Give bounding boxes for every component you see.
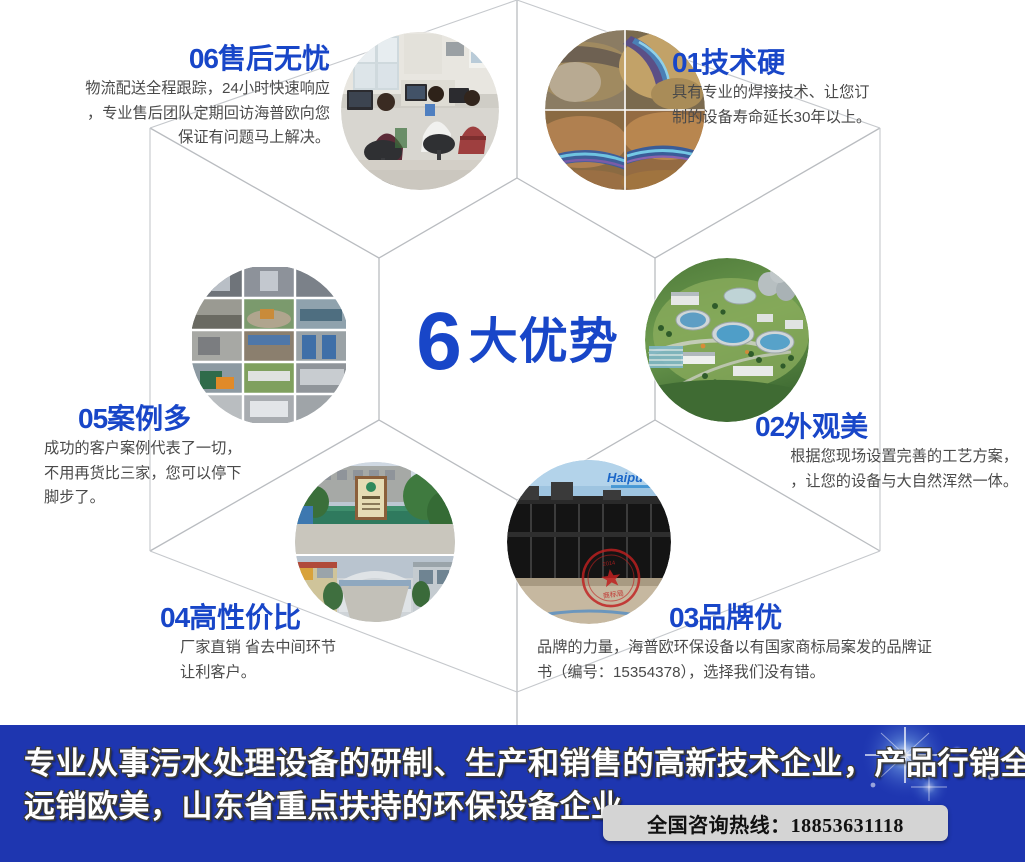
feature-photo-05 [190,265,350,425]
feature-text-04: 04高性价比 厂家直销 省去中间环节 让利客户。 [160,603,490,685]
feature-desc-line: 书（编号：15354378），选择我们没有错。 [537,664,825,681]
center-number: 6 [416,301,460,383]
feature-title-text-03: 品牌优 [698,602,782,633]
feature-desc-line: 不用再货比三家，您可以停下 [44,465,241,482]
feature-description-04: 厂家直销 省去中间环节 让利客户。 [160,636,490,685]
feature-photo-02 [645,258,809,422]
feature-number-01: 01 [672,47,701,78]
feature-title-04: 04高性价比 [160,603,490,633]
feature-text-02: 02外观美 根据您现场设置完善的工艺方案， ，让您的设备与大自然浑然一体。 [700,412,1018,494]
feature-number-03: 03 [669,602,698,633]
hotline-text: 全国咨询热线：18853631118 [647,809,904,838]
black-sewage-equipment-photo: Haipuou 商标局 2014 [507,460,671,624]
banner-line-1: 专业从事污水处理设备的研制、生产和销售的高新技术企业，产品行销全国并 [24,746,1025,781]
feature-desc-line: 品牌的力量，海普欧环保设备以有国家商标局案发的品牌证 [537,639,932,656]
feature-desc-line: 保证有问题马上解决。 [178,129,330,146]
feature-desc-line: 物流配送全程跟踪，24小时快速响应 [85,80,330,97]
feature-description-02: 根据您现场设置完善的工艺方案， ，让您的设备与大自然浑然一体。 [700,445,1018,494]
brand-logo-text: Haipuou [607,470,659,485]
feature-desc-line: 成功的客户案例代表了一切， [44,440,241,457]
center-label-text: 大优势 [469,318,619,367]
feature-text-06: 06售后无忧 物流配送全程跟踪，24小时快速响应 ，专业售后团队定期回访海普欧向… [10,44,330,151]
bottom-banner: 专业从事污水处理设备的研制、生产和销售的高新技术企业，产品行销全国并 远销欧美，… [0,725,1025,862]
feature-title-text-01: 技术硬 [701,47,785,78]
feature-desc-line: 厂家直销 省去中间环节 [180,639,336,656]
feature-number-04: 04 [160,602,189,633]
feature-number-02: 02 [755,411,784,442]
feature-description-05: 成功的客户案例代表了一切， 不用再货比三家，您可以停下 脚步了。 [44,437,344,511]
feature-number-06: 06 [189,43,218,74]
feature-description-03: 品牌的力量，海普欧环保设备以有国家商标局案发的品牌证 书（编号：15354378… [537,636,1007,685]
feature-desc-line: ，让您的设备与大自然浑然一体。 [790,473,1018,490]
aerial-wastewater-treatment-plant-photo [645,258,809,422]
feature-photo-06 [341,32,499,190]
feature-description-06: 物流配送全程跟踪，24小时快速响应 ，专业售后团队定期回访海普欧向您 保证有问题… [10,77,330,151]
feature-title-06: 06售后无忧 [10,44,330,74]
feature-title-03: 03品牌优 [537,603,1007,633]
feature-title-text-04: 高性价比 [189,602,301,633]
feature-desc-line: 根据您现场设置完善的工艺方案， [790,448,1018,465]
feature-text-05: 05案例多 成功的客户案例代表了一切， 不用再货比三家，您可以停下 脚步了。 [44,404,344,511]
office-staff-at-computers-photo [341,32,499,190]
feature-desc-line: 制的设备寿命延长30年以上。 [672,109,871,126]
customer-cases-photo-grid [190,265,350,425]
feature-title-text-06: 售后无忧 [218,43,330,74]
hotline-pill[interactable]: 全国咨询热线：18853631118 [603,805,948,841]
feature-text-01: 01技术硬 具有专业的焊接技术、让您订 制的设备寿命延长30年以上。 [672,48,1002,130]
feature-title-02: 02外观美 [700,412,1018,442]
feature-description-01: 具有专业的焊接技术、让您订 制的设备寿命延长30年以上。 [672,81,1002,130]
feature-title-01: 01技术硬 [672,48,1002,78]
feature-text-03: 03品牌优 品牌的力量，海普欧环保设备以有国家商标局案发的品牌证 书（编号：15… [537,603,1007,685]
feature-title-text-02: 外观美 [784,411,868,442]
infographic-canvas: 6 大优势 [0,0,1025,862]
feature-desc-line: 让利客户。 [180,664,256,681]
feature-title-text-05: 案例多 [107,403,191,434]
feature-photo-03: Haipuou 商标局 2014 [507,460,671,624]
feature-desc-line: 具有专业的焊接技术、让您订 [672,84,869,101]
center-headline: 6 大优势 [395,288,640,396]
feature-title-05: 05案例多 [44,404,344,434]
feature-desc-line: 脚步了。 [44,489,105,506]
feature-number-05: 05 [78,403,107,434]
feature-desc-line: ，专业售后团队定期回访海普欧向您 [87,105,330,122]
